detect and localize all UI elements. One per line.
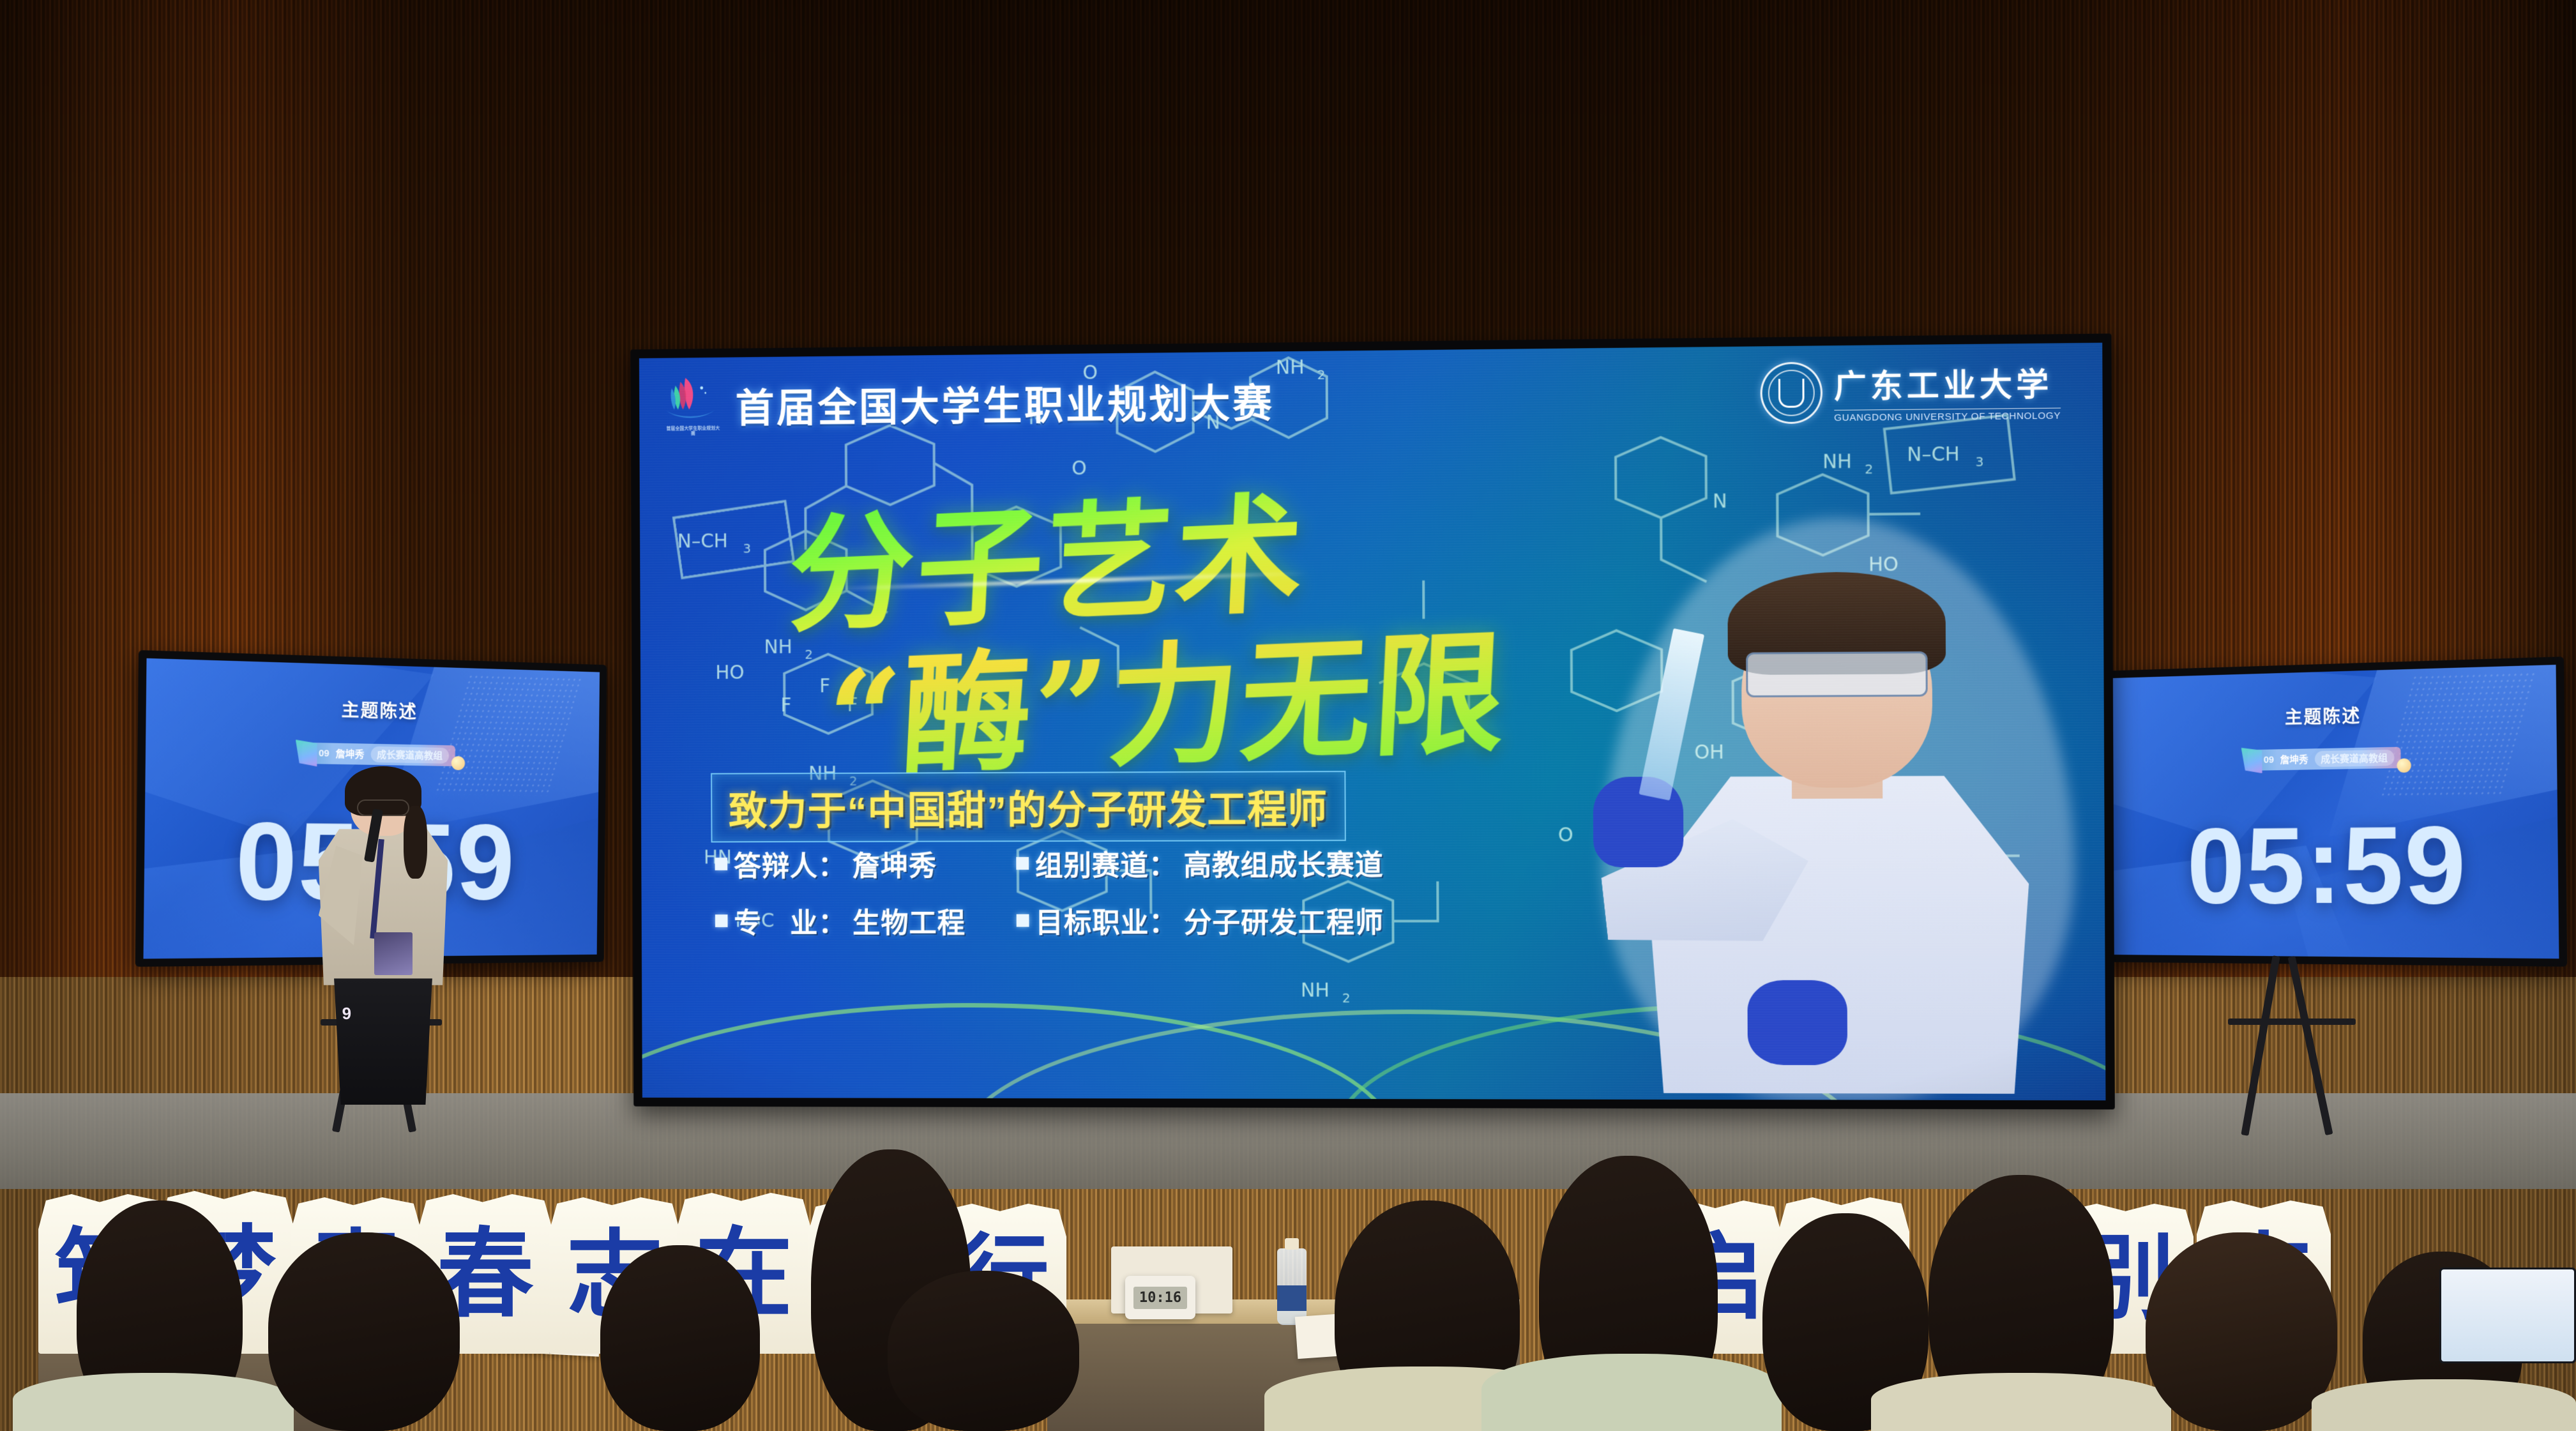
competition-logo-caption: 首届全国大学生职业规划大赛 xyxy=(664,426,722,437)
right-monitor-screen: 主题陈述 09 詹坤秀 成长赛道高教组 05:59 xyxy=(2103,665,2559,958)
audience-shoulder xyxy=(1871,1373,2171,1431)
info-value: 詹坤秀 xyxy=(852,844,937,884)
university-name-en: GUANGDONG UNIVERSITY OF TECHNOLOGY xyxy=(1834,408,2061,424)
tablet-screen xyxy=(2441,1269,2574,1361)
audience-head xyxy=(600,1245,760,1431)
info-item: 组别赛道： 高教组成长赛道 xyxy=(1016,842,1493,884)
competition-logo-icon: 首届全国大学生职业规划大赛 xyxy=(664,374,722,437)
track-pill: 成长赛道高教组 xyxy=(370,746,449,764)
svg-text:N–CH: N–CH xyxy=(1907,443,1960,466)
slide-title-line-2: “酶”力无限 xyxy=(823,587,1511,803)
event-title: 首届全国大学生职业规划大赛 xyxy=(735,371,1274,434)
track-pill: 成长赛道高教组 xyxy=(2315,750,2395,767)
slide-subtitle-box: 致力于“中国甜”的分子研发工程师 xyxy=(711,771,1346,842)
svg-text:O: O xyxy=(1558,824,1573,846)
badge-dot-icon xyxy=(451,756,464,770)
presenter-hair xyxy=(404,806,427,879)
info-value: 高教组成长赛道 xyxy=(1183,842,1383,884)
contestant-number: 09 xyxy=(319,748,330,759)
svg-text:HO: HO xyxy=(715,662,744,684)
audience-shoulder xyxy=(13,1373,294,1431)
bullet-square-icon xyxy=(715,858,728,870)
audience-head xyxy=(268,1232,460,1431)
svg-text:N: N xyxy=(1713,490,1727,513)
blue-glove xyxy=(1747,980,1847,1065)
slide-header: 首届全国大学生职业规划大赛 首届全国大学生职业规划大赛 xyxy=(664,368,1275,437)
scientist-photo-cutout xyxy=(1610,526,2066,1094)
info-label: 组别赛道： xyxy=(1035,843,1178,884)
bullet-square-icon xyxy=(1016,857,1029,870)
svg-text:NH: NH xyxy=(1276,356,1305,379)
svg-text:3: 3 xyxy=(1975,455,1983,470)
countdown-timer: 05:59 xyxy=(2104,809,2559,921)
audience-shoulder xyxy=(1481,1354,1782,1431)
name-badge xyxy=(374,932,413,976)
desk-tablet xyxy=(2439,1268,2576,1363)
contestant-badge: 09 詹坤秀 成长赛道高教组 xyxy=(302,743,455,766)
university-name: 广东工业大学 GUANGDONG UNIVERSITY OF TECHNOLOG… xyxy=(1834,359,2061,423)
audience-head xyxy=(888,1271,1079,1431)
slide-canvas: NH2 NH2 NH2 NH2 NH2 HO HO OH HN N N N N–… xyxy=(639,343,2106,1101)
svg-text:2: 2 xyxy=(1317,368,1326,382)
main-led-screen: NH2 NH2 NH2 NH2 NH2 HO HO OH HN N N N N–… xyxy=(630,333,2115,1109)
university-seal-icon xyxy=(1760,361,1822,424)
svg-text:NH: NH xyxy=(1822,450,1852,473)
lecture-hall-scene: 主题陈述 09 詹坤秀 成长赛道高教组 05:59 主题陈述 09 詹坤秀 xyxy=(0,0,2576,1431)
contestant-badge: 09 詹坤秀 成长赛道高教组 xyxy=(2247,747,2400,771)
svg-text:N–CH: N–CH xyxy=(678,530,728,552)
right-timer-monitor: 主题陈述 09 詹坤秀 成长赛道高教组 05:59 xyxy=(2096,656,2567,967)
slide-subtitle: 致力于“中国甜”的分子研发工程师 xyxy=(729,788,1328,833)
info-item: 答辩人： 詹坤秀 xyxy=(715,843,1016,884)
contestant-name: 詹坤秀 xyxy=(2280,753,2308,767)
university-lockup: 广东工业大学 GUANGDONG UNIVERSITY OF TECHNOLOG… xyxy=(1760,359,2061,425)
badge-dot-icon xyxy=(2397,758,2411,773)
info-label: 答辩人： xyxy=(734,844,846,884)
audience-head xyxy=(2146,1232,2337,1431)
university-name-cn: 广东工业大学 xyxy=(1834,359,2061,407)
presenter-person: 9 xyxy=(310,773,457,1105)
contestant-name: 詹坤秀 xyxy=(336,747,365,761)
presenter-pants xyxy=(328,978,439,1105)
svg-text:2: 2 xyxy=(1865,462,1873,476)
svg-text:F: F xyxy=(780,694,791,716)
glasses-icon xyxy=(357,799,410,816)
safety-goggles-icon xyxy=(1746,651,1928,697)
svg-text:3: 3 xyxy=(743,541,751,556)
pants-number: 9 xyxy=(342,1005,357,1025)
audience-shoulder xyxy=(2312,1379,2576,1431)
contestant-number: 09 xyxy=(2264,755,2274,766)
